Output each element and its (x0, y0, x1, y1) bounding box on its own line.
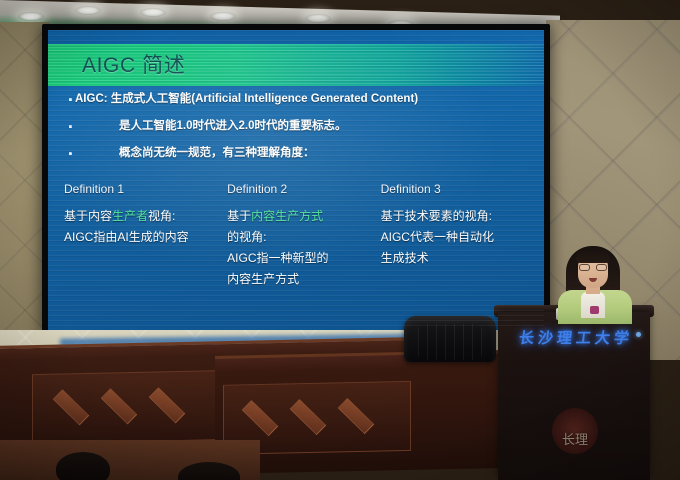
definition-line: 生成技术 (381, 248, 536, 269)
definition-text: 基于技术要素的视角: (381, 209, 492, 223)
presentation-slide: AIGC 简述 ▪ AIGC: 生成式人工智能(Artificial Intel… (48, 30, 544, 330)
presenter-person (552, 244, 638, 316)
slide-bullet-list: ▪ AIGC: 生成式人工智能(Artificial Intelligence … (66, 92, 526, 173)
podium-sign-char: 长 (518, 327, 536, 348)
definition-heading: Definition 3 (381, 182, 536, 196)
office-chair (404, 316, 496, 362)
podium-indicator-light (636, 332, 641, 337)
presenter-bangs (576, 248, 610, 263)
podium-sign-char: 大 (594, 327, 612, 348)
presenter-badge (590, 306, 599, 314)
bullet-marker-icon: ▪ (66, 146, 75, 161)
definition-text: 生成技术 (381, 251, 429, 265)
podium-led-sign: 长 沙 理 工 大 学 (498, 322, 650, 352)
slide-top-strip (48, 30, 544, 44)
lectern-podium: 长 沙 理 工 大 学 长理 (498, 312, 650, 480)
podium-sign-char: 沙 (537, 327, 555, 348)
audience-head (56, 452, 110, 480)
definition-line: 基于内容生产者视角: (64, 206, 227, 227)
definition-text: AIGC代表一种自动化 (381, 230, 494, 244)
emblem-text: 长理 (546, 404, 604, 476)
definition-highlight: 生产者 (112, 209, 148, 223)
ceiling-downlight (305, 14, 331, 23)
definition-line: 基于内容生产方式 (227, 206, 380, 227)
definition-heading: Definition 1 (64, 182, 227, 196)
slide-bullet-text: 概念尚无统一规范，有三种理解角度： (119, 146, 315, 160)
bullet-marker-icon: ▪ (66, 119, 75, 134)
definition-column-1: Definition 1 基于内容生产者视角: AIGC指由AI生成的内容 (64, 182, 227, 290)
glasses-lens-right (596, 264, 607, 271)
definition-text: 内容生产方式 (227, 272, 299, 286)
definition-text: 基于内容 (64, 209, 112, 223)
podium-sign-char: 学 (613, 327, 631, 348)
slide-bullet-item: ▪ 是人工智能1.0时代进入2.0时代的重要标志。 (66, 119, 526, 134)
definition-column-3: Definition 3 基于技术要素的视角: AIGC代表一种自动化 生成技术 (381, 182, 536, 290)
definition-line: 的视角: (227, 227, 380, 248)
slide-bullet-text: 是人工智能1.0时代进入2.0时代的重要标志。 (119, 119, 346, 133)
definition-text: 基于 (227, 209, 251, 223)
lecture-hall-scene: AIGC 简述 ▪ AIGC: 生成式人工智能(Artificial Intel… (0, 0, 680, 480)
podium-sign-char: 工 (575, 327, 593, 348)
definition-columns: Definition 1 基于内容生产者视角: AIGC指由AI生成的内容 De… (64, 182, 536, 290)
definition-line: 基于技术要素的视角: (381, 206, 536, 227)
slide-bullet-text: AIGC: 生成式人工智能(Artificial Intelligence Ge… (75, 92, 418, 106)
definition-text: 的视角: (227, 230, 266, 244)
projection-screen-frame: AIGC 简述 ▪ AIGC: 生成式人工智能(Artificial Intel… (42, 24, 550, 336)
podium-sign-char: 理 (556, 327, 574, 348)
slide-bullet-item: ▪ 概念尚无统一规范，有三种理解角度： (66, 146, 526, 161)
university-emblem: 长理 (546, 404, 604, 476)
glasses-lens-left (579, 264, 590, 271)
definition-text: 视角: (148, 209, 175, 223)
definition-highlight: 内容生产方式 (251, 209, 323, 223)
bullet-marker-icon: ▪ (66, 92, 75, 107)
definition-text: AIGC指由AI生成的内容 (64, 230, 189, 244)
definition-line: AIGC指由AI生成的内容 (64, 227, 227, 248)
definition-heading: Definition 2 (227, 182, 380, 196)
presenter-glasses (579, 264, 607, 271)
definition-text: AIGC指一种新型的 (227, 251, 328, 265)
presenter-shirt (581, 292, 605, 318)
definition-line: AIGC指一种新型的 (227, 248, 380, 269)
definition-line: 内容生产方式 (227, 269, 380, 290)
slide-bullet-item: ▪ AIGC: 生成式人工智能(Artificial Intelligence … (66, 92, 526, 107)
ceiling-downlight (18, 12, 44, 21)
ceiling-downlight (140, 8, 166, 17)
ceiling-downlight (210, 12, 236, 21)
definition-column-2: Definition 2 基于内容生产方式 的视角: AIGC指一种新型的 内容… (227, 182, 380, 290)
ceiling-downlight (75, 6, 101, 15)
definition-line: AIGC代表一种自动化 (381, 227, 536, 248)
slide-title: AIGC 简述 (82, 49, 185, 79)
